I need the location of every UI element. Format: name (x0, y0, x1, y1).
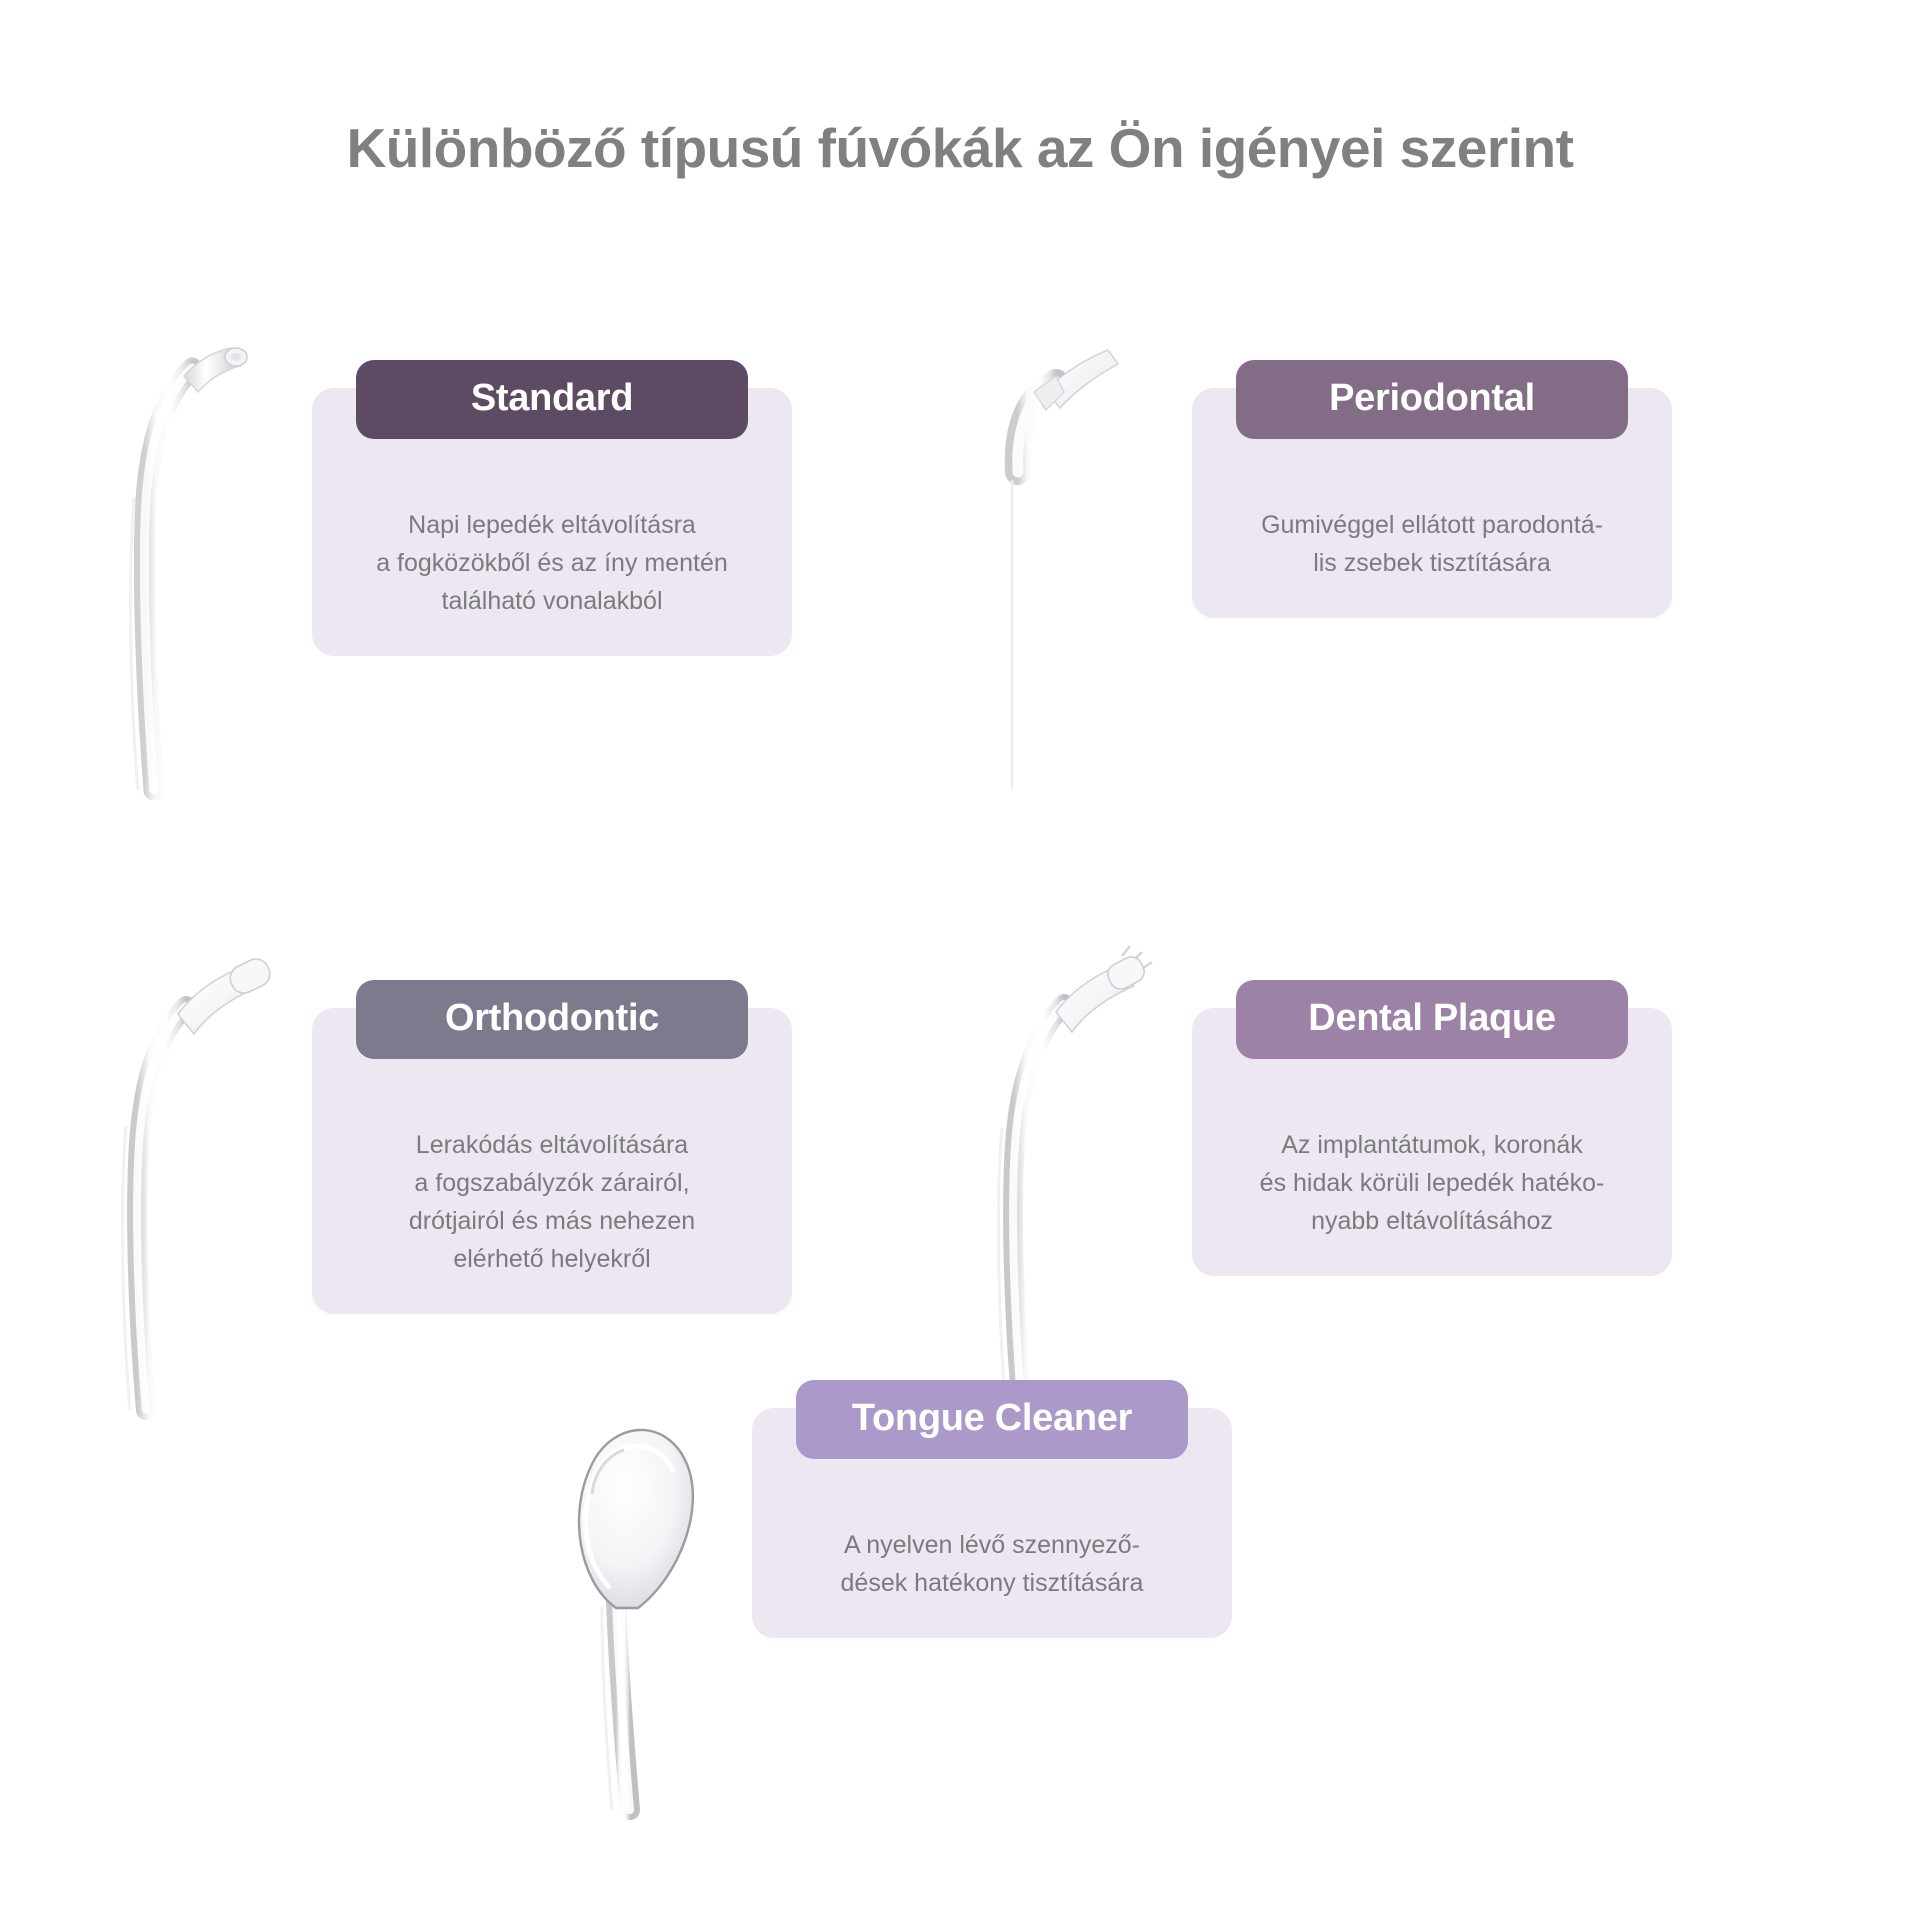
standard-nozzle-icon (80, 320, 340, 800)
badge-orthodontic[interactable]: Orthodontic (356, 980, 748, 1059)
card-row-1: Standard Napi lepedék eltávolításra a fo… (0, 380, 1920, 800)
card-row-2: Orthodontic Lerakódás eltávolítására a f… (0, 1000, 1920, 1420)
badge-tongue-cleaner[interactable]: Tongue Cleaner (796, 1380, 1188, 1459)
card-cell-tongue-cleaner: Tongue Cleaner A nyelven lévő szennyező-… (520, 1400, 1400, 1820)
card-orthodontic: Orthodontic Lerakódás eltávolítására a f… (312, 1008, 792, 1314)
card-tongue-cleaner: Tongue Cleaner A nyelven lévő szennyező-… (752, 1408, 1232, 1638)
page-root: Különböző típusú fúvókák az Ön igényei s… (0, 0, 1920, 1920)
card-standard: Standard Napi lepedék eltávolításra a fo… (312, 388, 792, 656)
card-cell-orthodontic: Orthodontic Lerakódás eltávolítására a f… (80, 1000, 960, 1420)
periodontal-nozzle-icon (960, 320, 1220, 800)
page-title: Különböző típusú fúvókák az Ön igényei s… (0, 115, 1920, 181)
card-periodontal: Periodontal Gumivéggel ellátott parodont… (1192, 388, 1672, 618)
card-dental-plaque: Dental Plaque Az implantátumok, koronák … (1192, 1008, 1672, 1276)
badge-periodontal[interactable]: Periodontal (1236, 360, 1628, 439)
card-cell-dental-plaque: Dental Plaque Az implantátumok, koronák … (960, 1000, 1840, 1420)
dental-plaque-nozzle-icon (960, 940, 1220, 1420)
card-cell-standard: Standard Napi lepedék eltávolításra a fo… (80, 380, 960, 800)
badge-dental-plaque[interactable]: Dental Plaque (1236, 980, 1628, 1059)
badge-standard[interactable]: Standard (356, 360, 748, 439)
orthodontic-nozzle-icon (80, 940, 340, 1420)
card-cell-periodontal: Periodontal Gumivéggel ellátott parodont… (960, 380, 1840, 800)
card-row-3: Tongue Cleaner A nyelven lévő szennyező-… (0, 1400, 1920, 1820)
tongue-cleaner-nozzle-icon (520, 1340, 780, 1820)
